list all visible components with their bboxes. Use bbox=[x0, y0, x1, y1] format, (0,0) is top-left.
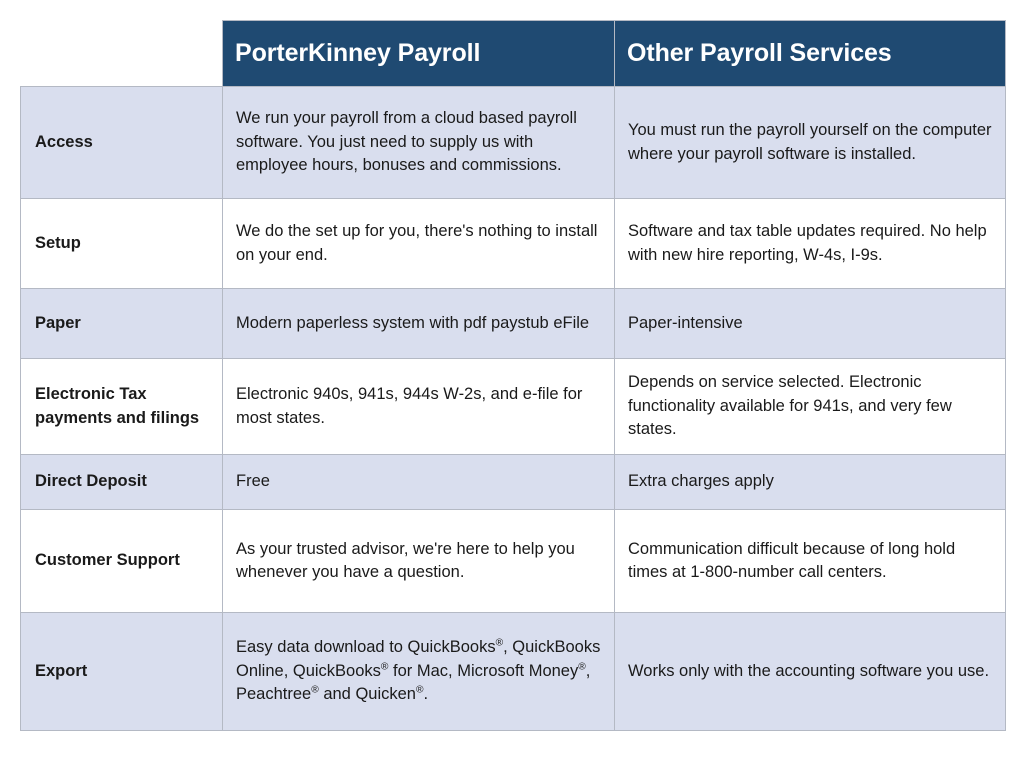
table-row: Customer Support As your trusted advisor… bbox=[21, 510, 1006, 613]
row-feature-label: Electronic Tax payments and filings bbox=[21, 359, 223, 455]
row-porterkinney-cell: As your trusted advisor, we're here to h… bbox=[223, 510, 615, 613]
row-porterkinney-cell: Modern paperless system with pdf paystub… bbox=[223, 289, 615, 359]
table-body: Access We run your payroll from a cloud … bbox=[21, 87, 1006, 731]
row-porterkinney-cell: Free bbox=[223, 455, 615, 510]
row-feature-label: Export bbox=[21, 613, 223, 731]
table-row: Export Easy data download to QuickBooks®… bbox=[21, 613, 1006, 731]
row-porterkinney-cell: We run your payroll from a cloud based p… bbox=[223, 87, 615, 199]
table-header-other: Other Payroll Services bbox=[615, 21, 1006, 87]
row-feature-label: Paper bbox=[21, 289, 223, 359]
row-other-cell: Depends on service selected. Electronic … bbox=[615, 359, 1006, 455]
table-row: Paper Modern paperless system with pdf p… bbox=[21, 289, 1006, 359]
registered-trademark-symbol: ® bbox=[578, 661, 586, 672]
row-porterkinney-cell: We do the set up for you, there's nothin… bbox=[223, 199, 615, 289]
registered-trademark-symbol: ® bbox=[416, 685, 424, 696]
row-other-cell: You must run the payroll yourself on the… bbox=[615, 87, 1006, 199]
table-header-corner bbox=[21, 21, 223, 87]
table-row: Direct Deposit Free Extra charges apply bbox=[21, 455, 1006, 510]
comparison-table-page: PorterKinney Payroll Other Payroll Servi… bbox=[0, 0, 1024, 760]
row-feature-label: Direct Deposit bbox=[21, 455, 223, 510]
row-feature-label: Customer Support bbox=[21, 510, 223, 613]
row-other-cell: Software and tax table updates required.… bbox=[615, 199, 1006, 289]
row-feature-label: Setup bbox=[21, 199, 223, 289]
table-row: Setup We do the set up for you, there's … bbox=[21, 199, 1006, 289]
registered-trademark-symbol: ® bbox=[381, 661, 389, 672]
row-feature-label: Access bbox=[21, 87, 223, 199]
row-other-cell: Paper-intensive bbox=[615, 289, 1006, 359]
row-porterkinney-cell: Easy data download to QuickBooks®, Quick… bbox=[223, 613, 615, 731]
table-row: Electronic Tax payments and filings Elec… bbox=[21, 359, 1006, 455]
registered-trademark-symbol: ® bbox=[311, 685, 319, 696]
payroll-comparison-table: PorterKinney Payroll Other Payroll Servi… bbox=[20, 20, 1006, 731]
table-header: PorterKinney Payroll Other Payroll Servi… bbox=[21, 21, 1006, 87]
row-other-cell: Extra charges apply bbox=[615, 455, 1006, 510]
row-other-cell: Works only with the accounting software … bbox=[615, 613, 1006, 731]
registered-trademark-symbol: ® bbox=[496, 638, 504, 649]
table-row: Access We run your payroll from a cloud … bbox=[21, 87, 1006, 199]
row-porterkinney-cell: Electronic 940s, 941s, 944s W-2s, and e-… bbox=[223, 359, 615, 455]
row-other-cell: Communication difficult because of long … bbox=[615, 510, 1006, 613]
table-header-row: PorterKinney Payroll Other Payroll Servi… bbox=[21, 21, 1006, 87]
table-header-porterkinney: PorterKinney Payroll bbox=[223, 21, 615, 87]
